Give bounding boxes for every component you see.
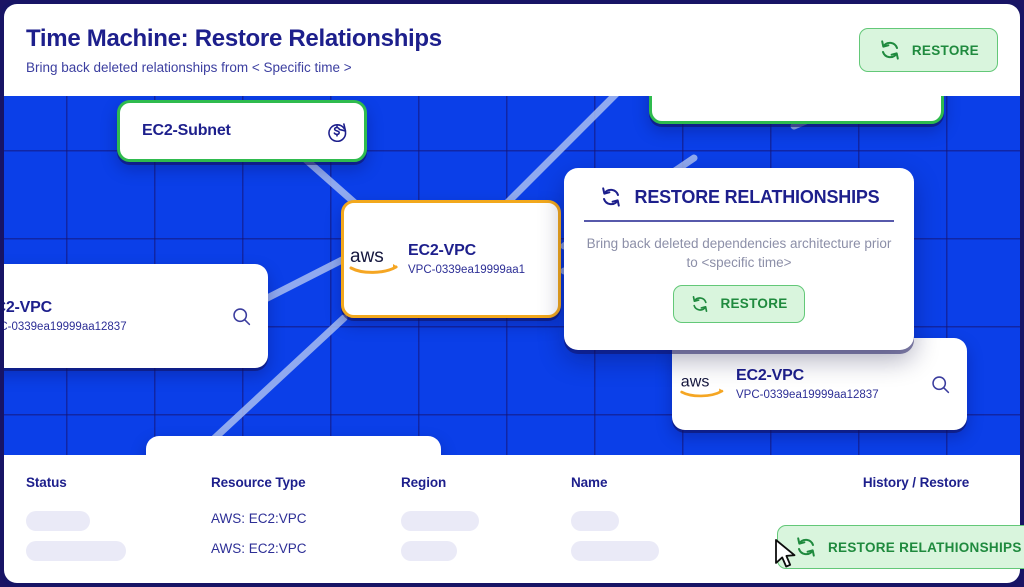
popup-restore-button[interactable]: RESTORE	[673, 285, 804, 323]
node-body: EC2-VPC VPC-0339ea19999aa12837	[736, 367, 879, 401]
column-header-resource-type: Resource Type	[211, 475, 411, 490]
node-action[interactable]	[231, 306, 268, 327]
table-column-status: Status	[26, 475, 206, 490]
node-action[interactable]	[326, 120, 364, 142]
popup-description: Bring back deleted dependencies architec…	[584, 234, 894, 272]
node-subtitle: VPC-0339ea19999aa1	[408, 264, 525, 276]
popup-divider	[584, 220, 894, 222]
name-skeleton-row-2	[571, 541, 659, 561]
popup-restore-label: RESTORE	[720, 296, 787, 311]
aws-logo: aws	[344, 242, 408, 276]
refresh-icon	[599, 185, 623, 209]
table-restore-relationships-button[interactable]: RESTORE RELATHIONSHIPS	[777, 525, 1024, 569]
node-title: EC2-VPC	[736, 367, 879, 385]
app-frame: EC2-Subnet aws	[0, 0, 1024, 587]
table-column-name: Name	[571, 475, 801, 490]
column-header-history-restore: History / Restore	[801, 475, 1024, 490]
region-skeleton-row-1	[401, 511, 479, 531]
node-body: EC2-Subnet	[142, 122, 231, 140]
node-bottom-partial[interactable]	[146, 436, 441, 455]
table-restore-label: RESTORE RELATHIONSHIPS	[828, 540, 1022, 555]
resources-table: Status Resource Type AWS: EC2:VPC AWS: E…	[4, 455, 1020, 583]
node-subtitle: VPC-0339ea19999aa12837	[736, 389, 879, 401]
popup-header: RESTORE RELATHIONSHIPS	[584, 185, 894, 220]
column-header-status: Status	[26, 475, 206, 490]
page-header: Time Machine: Restore Relationships Brin…	[4, 4, 1020, 96]
node-ec2-subnet[interactable]: EC2-Subnet	[117, 100, 367, 162]
column-header-name: Name	[571, 475, 801, 490]
node-top-right-partial[interactable]	[649, 96, 944, 124]
graph-canvas[interactable]: EC2-Subnet aws	[4, 96, 1020, 455]
refresh-icon	[794, 535, 818, 559]
node-body: EC2-VPC VPC-0339ea19999aa1	[408, 242, 525, 276]
table-column-history-restore: History / Restore RESTORE RELATHIONSHIPS	[801, 475, 1024, 490]
table-body: Status Resource Type AWS: EC2:VPC AWS: E…	[26, 475, 998, 583]
aws-logo: aws	[672, 368, 736, 400]
region-skeleton-row-2	[401, 541, 457, 561]
table-column-region: Region	[401, 475, 571, 490]
column-header-region: Region	[401, 475, 571, 490]
restore-relationships-popup[interactable]: RESTORE RELATHIONSHIPS Bring back delete…	[564, 168, 914, 350]
search-icon[interactable]	[930, 374, 951, 395]
name-skeleton-row-1	[571, 511, 619, 531]
dollar-circle-icon[interactable]	[326, 120, 348, 142]
page-title: Time Machine: Restore Relationships	[26, 25, 442, 53]
header-restore-button[interactable]: RESTORE	[859, 28, 998, 72]
aws-logo-icon: aws	[348, 242, 404, 276]
aws-logo-icon: aws	[679, 368, 729, 400]
node-action[interactable]	[930, 374, 967, 395]
svg-text:aws: aws	[350, 246, 384, 267]
node-ec2-vpc-lower[interactable]: aws EC2-VPC VPC-0339ea19999aa12837	[672, 338, 967, 430]
node-body: EC2-VPC VPC-0339ea19999aa12837	[4, 299, 127, 333]
status-skeleton-row-1	[26, 511, 90, 531]
node-ec2-vpc-left[interactable]: aws EC2-VPC VPC-0339ea19999aa12837	[4, 264, 268, 368]
table-column-resource-type: Resource Type AWS: EC2:VPC AWS: EC2:VPC	[211, 475, 411, 490]
refresh-icon	[878, 38, 902, 62]
page-subtitle: Bring back deleted relationships from < …	[26, 60, 442, 75]
node-subtitle: VPC-0339ea19999aa12837	[4, 321, 127, 333]
header-text-group: Time Machine: Restore Relationships Brin…	[26, 25, 442, 75]
svg-text:aws: aws	[681, 373, 710, 391]
popup-title: RESTORE RELATHIONSHIPS	[635, 187, 880, 208]
resource-type-row-2: AWS: EC2:VPC	[211, 541, 307, 556]
status-skeleton-row-2	[26, 541, 126, 561]
node-title: EC2-VPC	[4, 299, 127, 317]
header-restore-label: RESTORE	[912, 43, 979, 58]
search-icon[interactable]	[231, 306, 252, 327]
node-title: EC2-VPC	[408, 242, 525, 260]
node-ec2-vpc-main[interactable]: aws EC2-VPC VPC-0339ea19999aa1	[341, 200, 561, 318]
node-title: EC2-Subnet	[142, 122, 231, 140]
refresh-icon	[690, 294, 710, 314]
resource-type-row-1: AWS: EC2:VPC	[211, 511, 307, 526]
